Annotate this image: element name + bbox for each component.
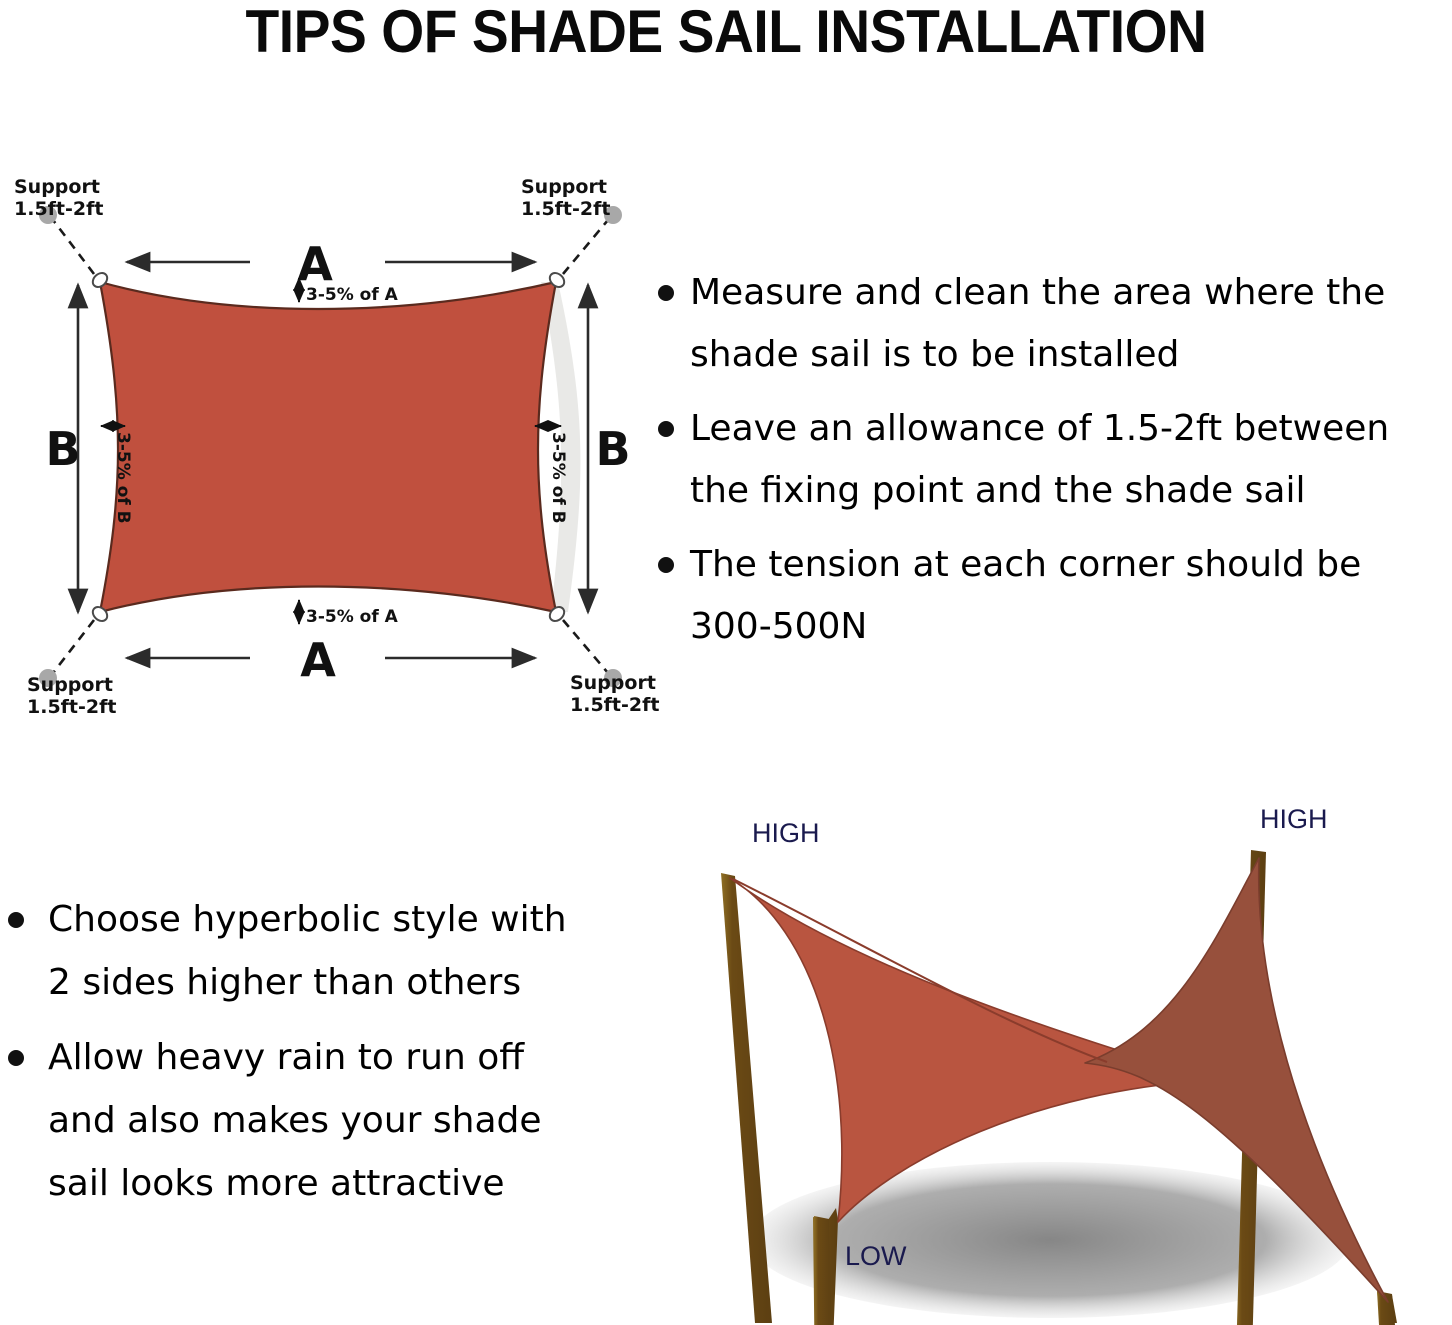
dimension-label-b-right: B	[595, 422, 630, 476]
support-label-bl-line1: Support	[27, 674, 113, 696]
bullet-line: The tension at each corner should be	[690, 534, 1452, 596]
tether-bottom-left	[53, 620, 94, 673]
sag-label-top: 3-5% of A	[306, 285, 399, 305]
list-item: Measure and clean the area where the sha…	[648, 262, 1452, 386]
bullet-line: Choose hyperbolic style with	[48, 888, 640, 951]
bullet-line: shade sail is to be installed	[690, 324, 1452, 386]
support-label-tl-line1: Support	[14, 176, 100, 198]
bullet-line: and also makes your shade	[48, 1089, 640, 1152]
list-item: The tension at each corner should be 300…	[648, 534, 1452, 658]
dimension-label-a-bottom: A	[300, 633, 336, 687]
tether-top-left	[53, 220, 94, 274]
support-label-tl-line2: 1.5ft-2ft	[14, 198, 103, 220]
sag-label-left: 3-5% of B	[113, 432, 133, 524]
tether-top-right	[563, 220, 608, 274]
tether-bottom-right	[563, 620, 608, 673]
bullet-list-top: Measure and clean the area where the sha…	[648, 262, 1452, 658]
hyperbolic-sail-svg: HIGH HIGH LOW LOW	[655, 780, 1452, 1325]
bullet-line: Leave an allowance of 1.5-2ft between	[690, 398, 1452, 460]
installation-tips-list-bottom: Choose hyperbolic style with 2 sides hig…	[0, 888, 640, 1227]
support-label-br-line2: 1.5ft-2ft	[570, 694, 659, 716]
bullet-line: sail looks more attractive	[48, 1152, 640, 1215]
hyperbolic-sail-diagram: HIGH HIGH LOW LOW	[655, 780, 1452, 1325]
label-high-left: HIGH	[752, 818, 820, 848]
rect-sail-svg: Support 1.5ft-2ft Support 1.5ft-2ft Supp…	[0, 160, 665, 730]
support-label-bl-line2: 1.5ft-2ft	[27, 696, 116, 718]
installation-tips-list-top: Measure and clean the area where the sha…	[648, 262, 1452, 670]
list-item: Leave an allowance of 1.5-2ft between th…	[648, 398, 1452, 522]
dimension-label-a-top: A	[297, 237, 333, 291]
ground-shadow	[750, 1162, 1350, 1318]
list-item: Allow heavy rain to run off and also mak…	[0, 1026, 640, 1215]
sag-label-bottom: 3-5% of A	[306, 607, 399, 627]
bullet-list-bottom: Choose hyperbolic style with 2 sides hig…	[0, 888, 640, 1215]
bullet-line: Measure and clean the area where the	[690, 262, 1452, 324]
label-high-right: HIGH	[1260, 804, 1328, 834]
sag-label-right: 3-5% of B	[548, 432, 568, 524]
bullet-line: the fixing point and the shade sail	[690, 460, 1452, 522]
support-label-tr-line1: Support	[521, 176, 607, 198]
bullet-line: 300-500N	[690, 596, 1452, 658]
list-item: Choose hyperbolic style with 2 sides hig…	[0, 888, 640, 1014]
support-label-br-line1: Support	[570, 672, 656, 694]
page-title: TIPS OF SHADE SAIL INSTALLATION	[58, 0, 1394, 70]
dimension-label-b-left: B	[45, 422, 80, 476]
support-label-tr-line2: 1.5ft-2ft	[521, 198, 610, 220]
bullet-line: 2 sides higher than others	[48, 951, 640, 1014]
post-back-left	[721, 873, 772, 1323]
sail-shape	[100, 282, 556, 612]
rectangular-sail-diagram: Support 1.5ft-2ft Support 1.5ft-2ft Supp…	[0, 160, 665, 730]
label-low-left: LOW	[845, 1241, 907, 1271]
post-front-right-body	[1377, 1291, 1395, 1325]
bullet-line: Allow heavy rain to run off	[48, 1026, 640, 1089]
